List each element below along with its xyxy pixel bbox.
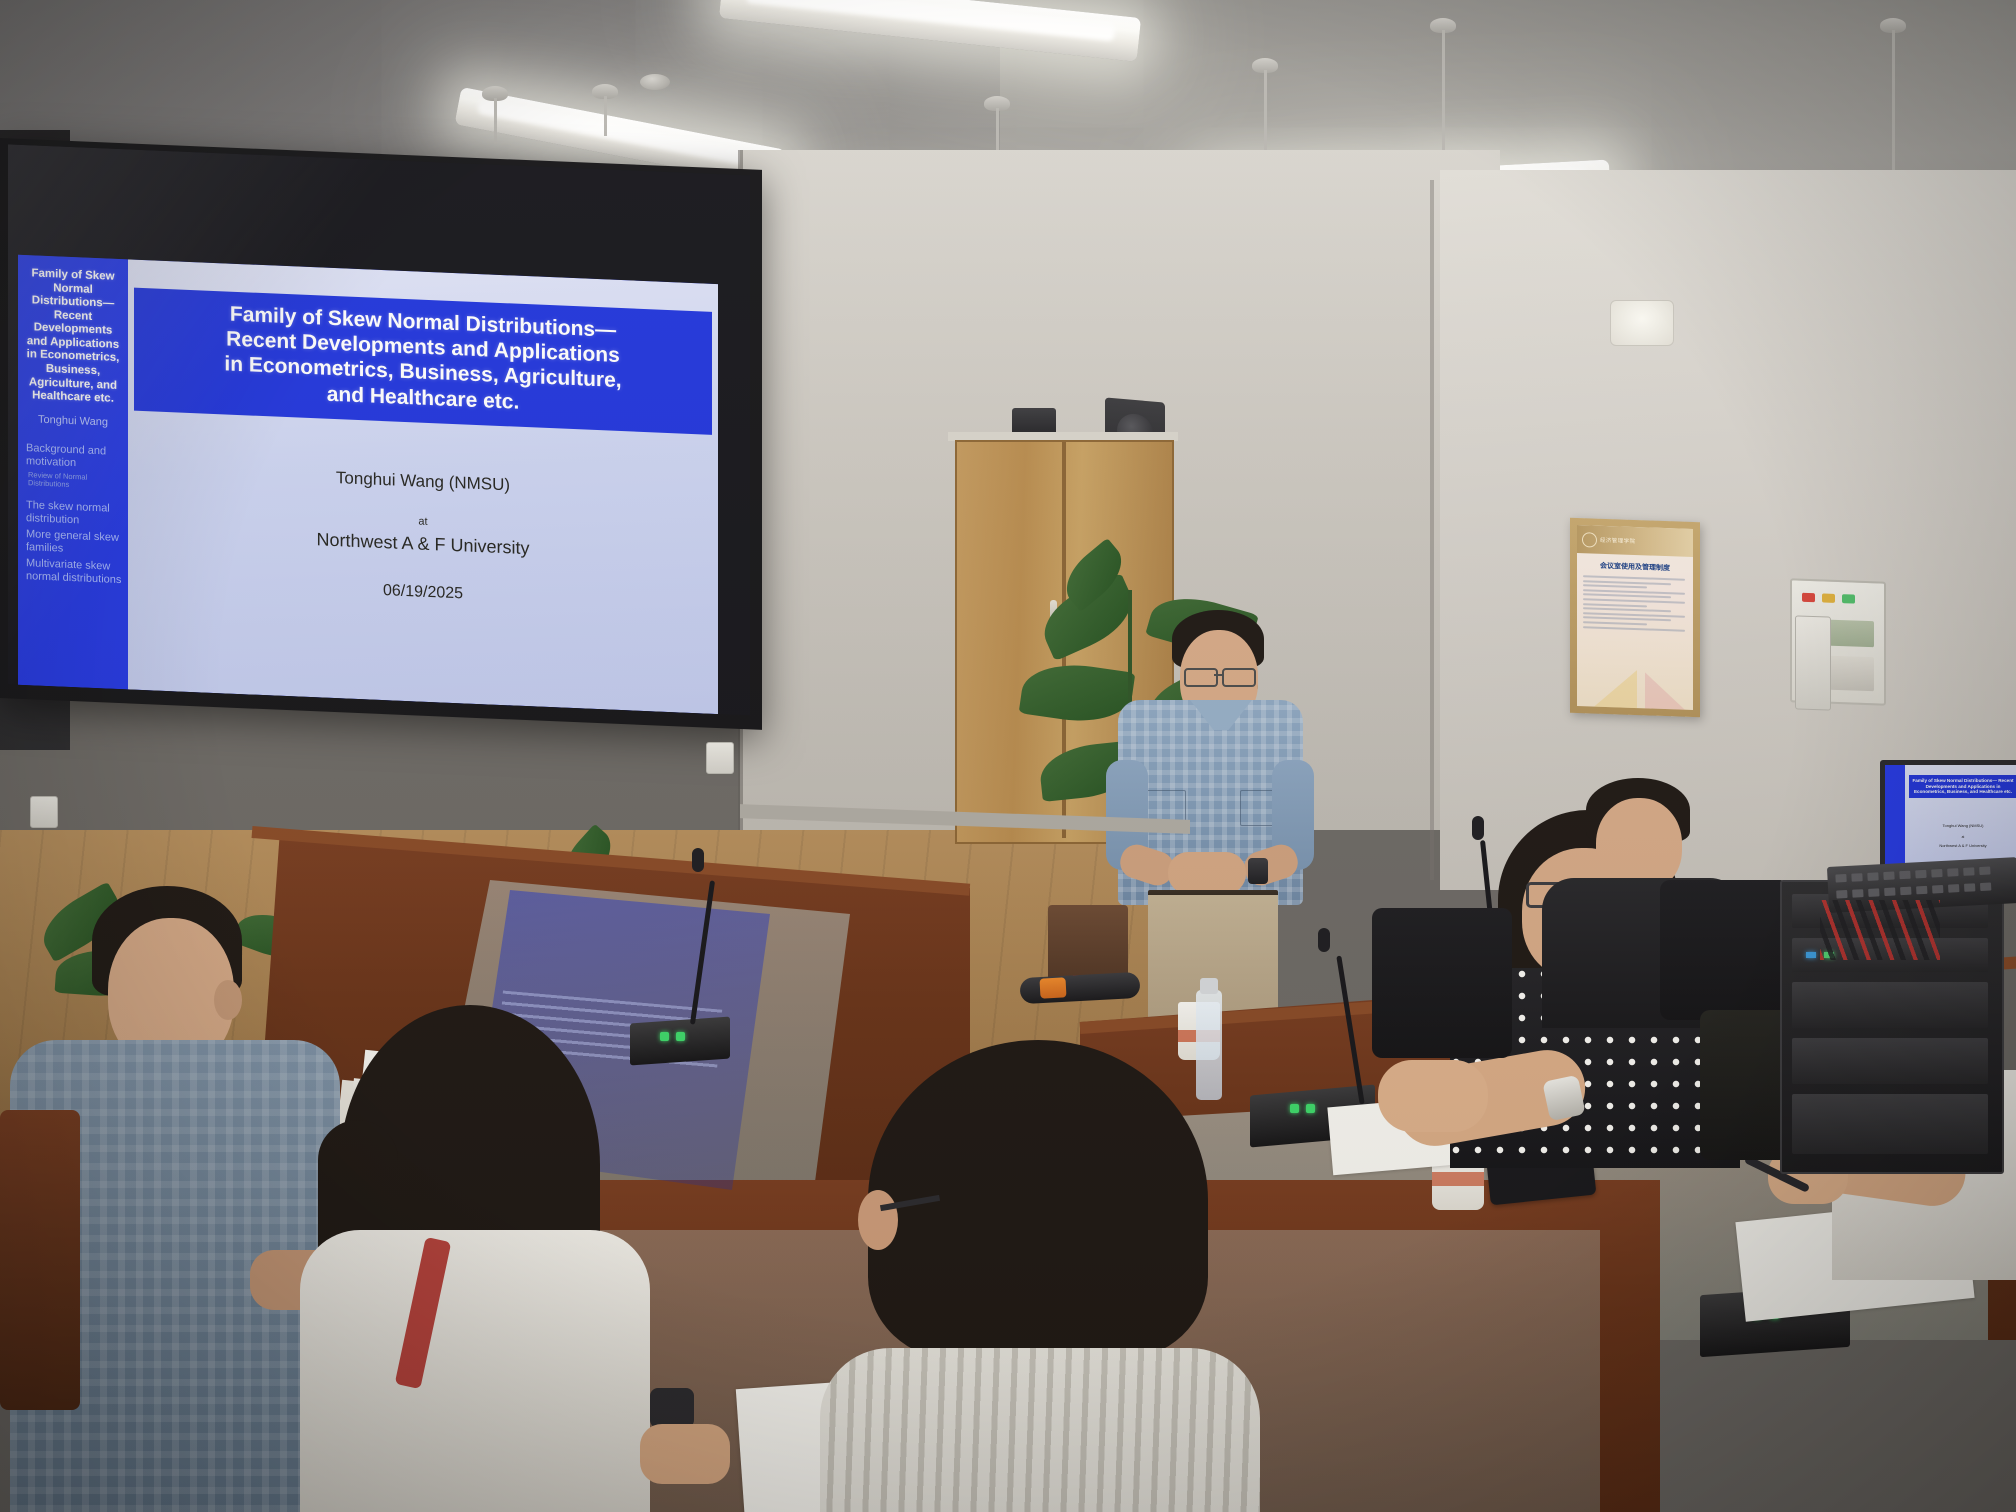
- presenter-wristwatch: [1248, 858, 1268, 884]
- rack-unit-5[interactable]: [1792, 1094, 1988, 1154]
- notice-board-header: 经济管理学院: [1577, 525, 1693, 557]
- presenter-glasses: [1222, 668, 1256, 687]
- notice-rule-line: [1583, 603, 1647, 607]
- notice-board: 经济管理学院 会议室使用及管理制度: [1570, 518, 1700, 718]
- monitor-slide-venue: Northwest A & F University: [1905, 843, 2016, 848]
- audience-watch[interactable]: [650, 1388, 694, 1428]
- slide-sidebar-section-multivariate[interactable]: Multivariate skew normal distributions: [22, 557, 124, 587]
- notice-decor-triangle-1: [1577, 668, 1637, 710]
- notice-board-title: 会议室使用及管理制度: [1577, 560, 1693, 574]
- wall-control-box[interactable]: [1795, 615, 1831, 710]
- notice-board-inner: 经济管理学院 会议室使用及管理制度: [1577, 525, 1693, 710]
- chair-right-2[interactable]: [1660, 880, 1790, 1020]
- water-bottle-cap: [1200, 978, 1218, 994]
- rack-led-blue: [1806, 952, 1816, 958]
- slide-sidebar-section-skew-normal[interactable]: The skew normal distribution: [22, 499, 124, 529]
- notice-rule-line: [1583, 626, 1685, 632]
- av-cable-bundle: [1820, 900, 1940, 960]
- projection-surface: Family of Skew Normal Distributions— Rec…: [8, 144, 750, 715]
- light-stem-2: [604, 96, 607, 136]
- water-bottle: [1196, 990, 1222, 1100]
- presenter-hands-clasped: [1168, 852, 1246, 894]
- alarm-led-red: [1802, 593, 1815, 602]
- notice-board-org: 经济管理学院: [1600, 536, 1635, 545]
- mic-capsule: [1472, 816, 1484, 840]
- school-seal-icon: [1582, 532, 1597, 548]
- wall-corner-seam: [1430, 180, 1434, 880]
- mic-capsule: [692, 848, 704, 872]
- audience-torso: [300, 1230, 650, 1512]
- audience-torso: [820, 1348, 1260, 1512]
- slide-sidebar: Family of Skew Normal Distributions— Rec…: [18, 255, 128, 690]
- monitor-slide-body: Family of Skew Normal Distributions— Rec…: [1905, 765, 2016, 873]
- paper-cup-2-band: [1432, 1172, 1484, 1186]
- slide-body: Family of Skew Normal Distributions— Rec…: [128, 259, 718, 714]
- mic-orange-band: [1039, 977, 1066, 998]
- monitor-slide-byline: Tonghui Wang (NMSU): [1905, 823, 2016, 828]
- chair-left-1[interactable]: [0, 1110, 80, 1410]
- slide-date: 06/19/2025: [128, 571, 718, 614]
- smoke-detector-1: [640, 74, 670, 90]
- slide-sidebar-section-general-families[interactable]: More general skew families: [22, 528, 124, 558]
- presenter-glasses-bridge: [1214, 674, 1222, 676]
- audience-ear: [858, 1190, 898, 1250]
- slide-title-box: Family of Skew Normal Distributions— Rec…: [134, 288, 712, 435]
- monitor-slide-at: at: [1905, 835, 2016, 839]
- chair-right-1[interactable]: [1372, 908, 1512, 1058]
- alarm-led-green: [1842, 594, 1855, 603]
- audience-hands-clasped: [1378, 1060, 1488, 1132]
- rack-unit-4[interactable]: [1792, 1038, 1988, 1084]
- notice-rule-line: [1583, 584, 1647, 588]
- projection-screen: Family of Skew Normal Distributions— Rec…: [0, 138, 762, 730]
- power-outlet-2[interactable]: [30, 796, 58, 828]
- slide-sidebar-title: Family of Skew Normal Distributions— Rec…: [22, 267, 124, 407]
- power-outlet-1[interactable]: [706, 742, 734, 774]
- light-stem-6: [1892, 30, 1895, 178]
- audience-hand: [640, 1424, 730, 1484]
- rack-unit-3[interactable]: [1792, 982, 1988, 1028]
- audience-ear: [214, 980, 242, 1020]
- seminar-room-photo: Family of Skew Normal Distributions— Rec…: [0, 0, 2016, 1512]
- slide-sidebar-author: Tonghui Wang: [22, 413, 124, 430]
- slide-byline: Tonghui Wang (NMSU): [128, 459, 718, 504]
- notice-rule-line: [1583, 621, 1647, 625]
- light-stem-1: [494, 98, 497, 144]
- monitor-slide-sidebar: [1885, 765, 1905, 873]
- presenter-glasses: [1184, 668, 1218, 687]
- monitor-slide-title: Family of Skew Normal Distributions— Rec…: [1909, 775, 2016, 798]
- slide-sidebar-subitem-review[interactable]: Review of Normal Distributions: [22, 471, 124, 493]
- wall-fixture-round: [1610, 300, 1674, 346]
- alarm-led-yellow: [1822, 593, 1835, 602]
- slide-sidebar-section-background[interactable]: Background and motivation: [22, 442, 124, 472]
- monitor-mirrored-slide: Family of Skew Normal Distributions— Rec…: [1885, 765, 2016, 873]
- mic-capsule: [1318, 928, 1330, 952]
- notice-decor-triangle-2: [1645, 672, 1693, 710]
- presentation-slide: Family of Skew Normal Distributions— Rec…: [18, 255, 718, 714]
